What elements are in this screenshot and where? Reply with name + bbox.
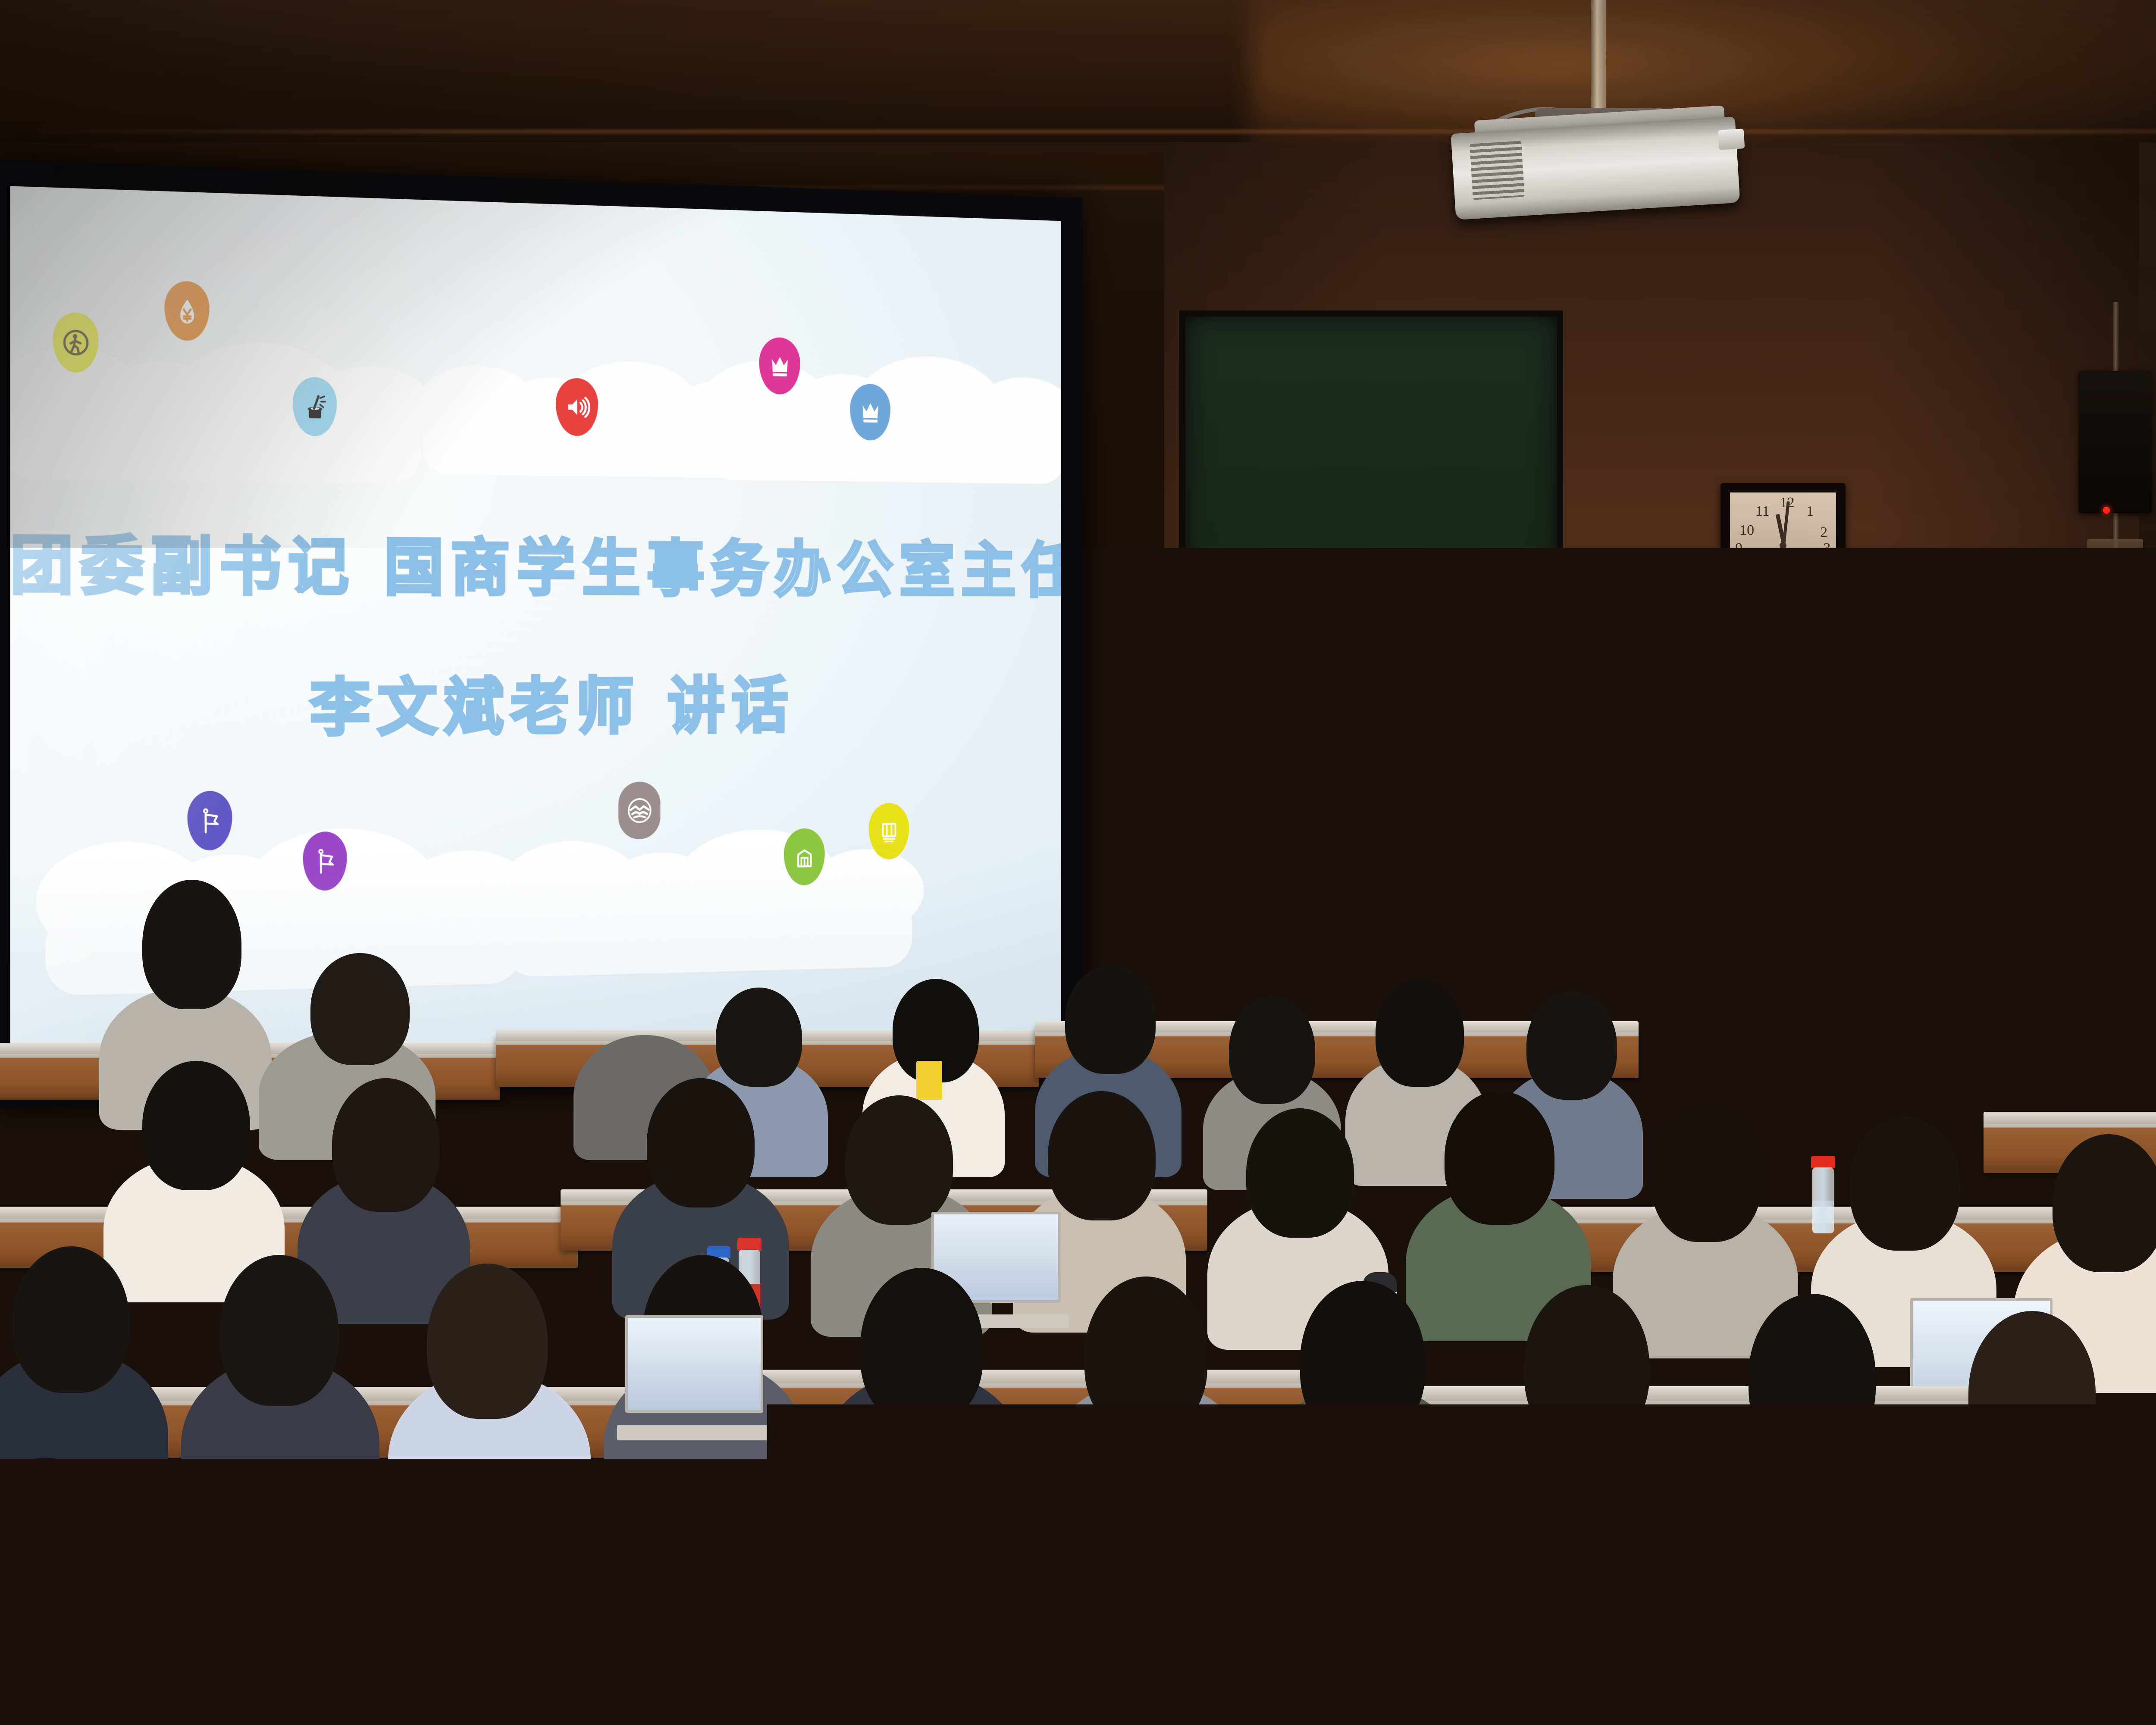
- laptop-screen: [1889, 1522, 2070, 1633]
- audience-head: [142, 1061, 250, 1190]
- bottle-label: Cestbon: [1434, 1658, 1470, 1725]
- wall-speaker: [2078, 371, 2152, 513]
- clock-numeral: 8: [1741, 558, 1748, 575]
- audience-head: [1744, 1466, 1899, 1669]
- audience-head: [604, 957, 690, 1061]
- desk-rail: [1358, 1386, 2048, 1401]
- open-book: [1750, 1679, 1933, 1725]
- audience-head: [946, 1458, 1100, 1656]
- presenter-cap-brim: [1614, 766, 1706, 779]
- audience-head: [1300, 1281, 1425, 1440]
- audience-head: [2053, 1134, 2156, 1272]
- slide-title-block: 团委副书记 国商学生事务办公室主任 李文斌老师 讲话: [10, 513, 1061, 750]
- desk-rail: [0, 1207, 578, 1219]
- bottle-label: [1812, 1201, 1833, 1233]
- wall-outlet-plate: [2100, 664, 2139, 716]
- laptop-screen: [625, 1315, 763, 1413]
- clock-numeral: 5: [1802, 573, 1809, 590]
- laptop: [1889, 1522, 2070, 1665]
- lanyard: [916, 1061, 942, 1100]
- audience-head: [1246, 1108, 1354, 1238]
- audience-area: Cestbon: [0, 970, 2156, 1725]
- bottle-cap: [1811, 1156, 1835, 1168]
- water-bottle: [1811, 1156, 1835, 1233]
- audience-head: [332, 1078, 440, 1212]
- water-bottle: [26, 1471, 56, 1578]
- audience-head: [1065, 966, 1156, 1074]
- clock-numeral: 7: [1755, 573, 1763, 590]
- clock-face: 12 1 2 3 4 5 6 7 8 9 10 11: [1730, 492, 1836, 599]
- bottle-label: [28, 1533, 54, 1578]
- bottle-cap: [737, 1238, 761, 1251]
- bottle-cap: [26, 1471, 56, 1488]
- laptop-base: [1878, 1647, 2081, 1665]
- flag-icon-indigo: [188, 790, 232, 850]
- clock-numeral: 9: [1735, 540, 1742, 557]
- wall-clock: 12 1 2 3 4 5 6 7 8 9 10 11: [1720, 483, 1846, 608]
- bottle-cap: [1432, 1565, 1473, 1591]
- audience-head: [444, 1466, 593, 1656]
- clock-numeral: 3: [1823, 540, 1830, 557]
- slide-title-line-2: 李文斌老师 讲话: [10, 656, 1061, 750]
- audience-head: [1477, 1479, 1630, 1678]
- slide-title-line-1: 团委副书记 国商学生事务办公室主任: [10, 513, 1061, 608]
- water-bottle-cestbon: Cestbon: [1432, 1565, 1473, 1725]
- wall-utility-box: [2087, 539, 2143, 604]
- notebook-icon: [869, 803, 909, 859]
- projector-vent: [1470, 141, 1525, 200]
- audience-head: [142, 880, 241, 1009]
- thermos-logo: [183, 1494, 213, 1505]
- bottle-cap: [1022, 1406, 1048, 1420]
- audience-head: [1968, 1311, 2096, 1475]
- clock-numeral: 2: [1820, 524, 1827, 541]
- blackboard-divider: [1179, 733, 1563, 736]
- clock-numeral: 6: [1780, 580, 1787, 596]
- orange-thermos: [172, 1483, 224, 1665]
- projector-lens: [1718, 129, 1745, 150]
- presenter-glasses-right: [1659, 788, 1686, 806]
- laptop-base: [617, 1425, 771, 1440]
- audience-head: [1210, 1475, 1363, 1673]
- lecture-hall-photo: 团委副书记 国商学生事务办公室主任 李文斌老师 讲话: [0, 0, 2156, 1725]
- laptop: [625, 1315, 763, 1440]
- audience-head: [860, 1268, 983, 1425]
- wall-seam: [0, 129, 2156, 134]
- presenter-glasses-left: [1629, 788, 1656, 806]
- clock-numeral: 4: [1817, 558, 1824, 575]
- audience-head: [1229, 996, 1315, 1104]
- presenter-glasses-bridge: [1656, 788, 1662, 791]
- speaker-power-led: [2103, 507, 2110, 514]
- currency-drop-icon: [164, 281, 209, 342]
- clock-numeral: 1: [1806, 503, 1814, 520]
- handshake-icon: [618, 781, 660, 840]
- presenter-mouth: [1644, 819, 1672, 825]
- audience-head: [716, 988, 802, 1087]
- audience-head: [427, 1264, 548, 1419]
- presenter-neck: [1630, 841, 1690, 865]
- audience-head: [1526, 992, 1617, 1100]
- audience-head: [1850, 1117, 1960, 1251]
- clock-center-pin: [1780, 542, 1786, 549]
- audience-head: [845, 1095, 953, 1225]
- audience-head: [220, 1255, 338, 1406]
- audience-head: [310, 953, 410, 1065]
- audience-head: [1376, 979, 1464, 1087]
- clock-numeral: 10: [1739, 522, 1754, 539]
- audience-head: [1048, 1091, 1156, 1220]
- desk-rail: [1984, 1112, 2156, 1124]
- bag-handle: [2078, 1423, 2152, 1456]
- audience-head: [1749, 1294, 1876, 1458]
- chalkboard-eraser: [1463, 809, 1499, 864]
- bottle-brand-text: Cestbon: [1431, 1706, 1473, 1721]
- audience-head: [647, 1078, 755, 1207]
- clock-numeral: 11: [1755, 503, 1770, 520]
- audience-head: [1524, 1285, 1649, 1445]
- audience-head: [13, 1246, 129, 1393]
- audience-head: [1445, 1091, 1554, 1225]
- audience-head: [692, 1471, 843, 1665]
- audience-head: [1651, 1108, 1761, 1242]
- audience-head: [1084, 1276, 1207, 1434]
